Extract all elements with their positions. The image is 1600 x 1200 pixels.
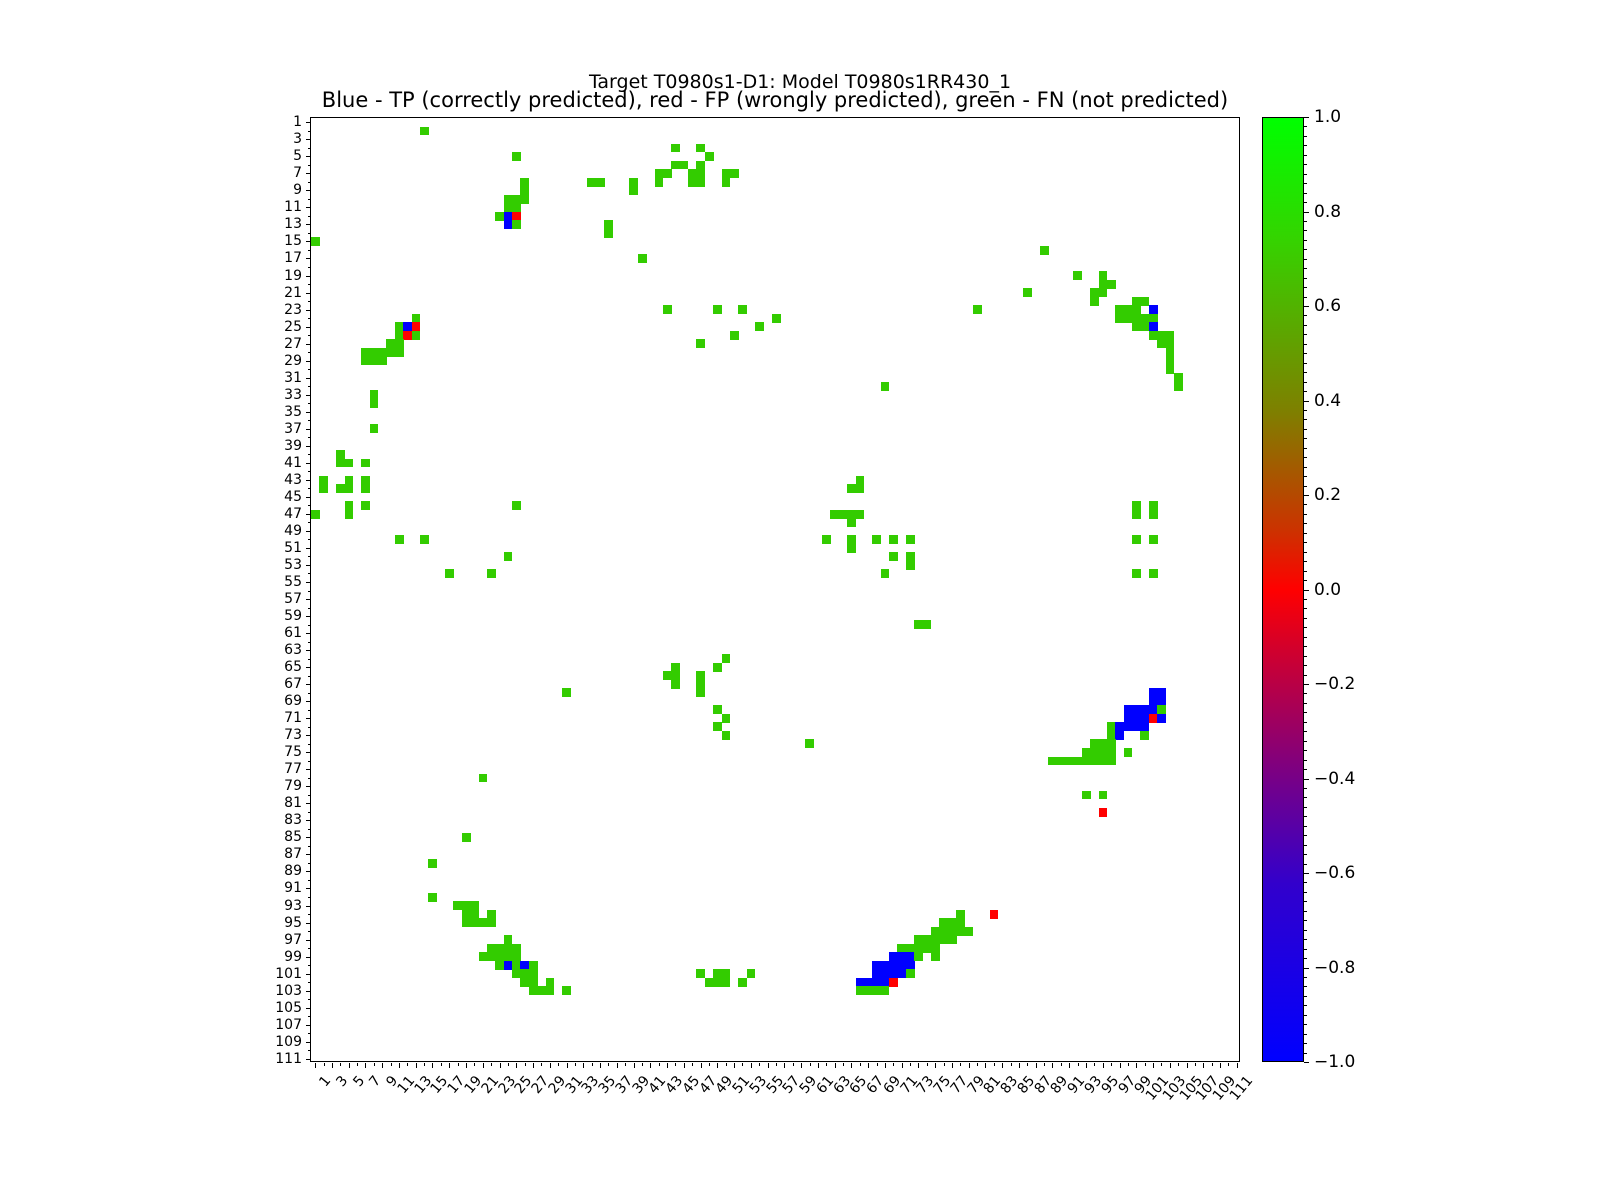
y-axis-tick bbox=[308, 999, 311, 1000]
x-axis-tick bbox=[1011, 1063, 1012, 1066]
y-axis-tick bbox=[306, 752, 311, 753]
y-axis-tick bbox=[308, 880, 311, 881]
contact-cell bbox=[1132, 510, 1141, 519]
contact-map-figure: Target T0980s1-D1: Model T0980s1RR430_1 … bbox=[0, 0, 1600, 1200]
colorbar-minor-tick bbox=[1304, 920, 1307, 921]
colorbar-minor-tick bbox=[1304, 523, 1307, 524]
colorbar[interactable]: 1.00.80.60.40.20.0−0.2−0.4−0.6−0.8−1.0 bbox=[1262, 117, 1304, 1062]
y-axis-tick bbox=[306, 1025, 311, 1026]
y-axis-tick bbox=[308, 505, 311, 506]
x-axis-tick bbox=[793, 1063, 794, 1066]
x-axis-tick bbox=[918, 1063, 919, 1068]
x-axis-tick bbox=[927, 1063, 928, 1066]
contact-cell bbox=[671, 680, 680, 689]
y-axis-tick bbox=[308, 863, 311, 864]
colorbar-minor-tick bbox=[1304, 580, 1307, 581]
y-axis-tick-label: 37 bbox=[284, 421, 302, 437]
y-axis-tick bbox=[306, 906, 311, 907]
y-axis-tick bbox=[308, 403, 311, 404]
x-axis-tick bbox=[1036, 1063, 1037, 1068]
y-axis-tick-label: 13 bbox=[284, 216, 302, 232]
colorbar-minor-tick bbox=[1304, 958, 1307, 959]
y-axis-tick-label: 73 bbox=[284, 727, 302, 743]
x-axis-tick bbox=[851, 1063, 852, 1068]
y-axis-tick bbox=[308, 744, 311, 745]
y-axis-tick bbox=[308, 931, 311, 932]
colorbar-minor-tick bbox=[1304, 240, 1307, 241]
y-axis-tick bbox=[308, 301, 311, 302]
colorbar-minor-tick bbox=[1304, 363, 1307, 364]
y-axis-tick bbox=[306, 139, 311, 140]
y-axis-tick bbox=[306, 565, 311, 566]
y-axis-tick bbox=[306, 173, 311, 174]
x-axis-tick bbox=[985, 1063, 986, 1068]
y-axis-tick bbox=[306, 497, 311, 498]
colorbar-minor-tick bbox=[1304, 467, 1307, 468]
colorbar-minor-tick bbox=[1304, 438, 1307, 439]
colorbar-minor-tick bbox=[1304, 334, 1307, 335]
y-axis-tick-label: 65 bbox=[284, 659, 302, 675]
colorbar-minor-tick bbox=[1304, 1043, 1307, 1044]
contact-cell bbox=[738, 305, 747, 314]
y-axis-tick-label: 17 bbox=[284, 250, 302, 266]
y-axis-tick bbox=[308, 778, 311, 779]
colorbar-minor-tick bbox=[1304, 816, 1307, 817]
contact-cell bbox=[1082, 791, 1091, 800]
x-axis-tick bbox=[935, 1063, 936, 1068]
x-axis-tick-label: 3 bbox=[333, 1073, 351, 1090]
y-axis-tick bbox=[308, 846, 311, 847]
x-axis-tick bbox=[944, 1063, 945, 1066]
contact-cell bbox=[512, 152, 521, 161]
x-axis-tick bbox=[659, 1063, 660, 1066]
y-axis-tick bbox=[308, 250, 311, 251]
contact-cell bbox=[881, 382, 890, 391]
y-axis-tick bbox=[308, 625, 311, 626]
colorbar-minor-tick bbox=[1304, 788, 1307, 789]
contact-cell bbox=[713, 663, 722, 672]
colorbar-tick-label: 0.4 bbox=[1314, 391, 1341, 411]
colorbar-minor-tick bbox=[1304, 949, 1307, 950]
x-axis-tick bbox=[324, 1063, 325, 1066]
y-axis-tick bbox=[308, 199, 311, 200]
x-axis-tick bbox=[558, 1063, 559, 1066]
contact-cell bbox=[881, 986, 890, 995]
x-axis-tick bbox=[1128, 1063, 1129, 1066]
contact-cell bbox=[1099, 808, 1108, 817]
y-axis-tick bbox=[306, 974, 311, 975]
x-axis-tick bbox=[826, 1063, 827, 1066]
y-axis-tick-label: 105 bbox=[275, 1000, 302, 1016]
colorbar-minor-tick bbox=[1304, 675, 1307, 676]
colorbar-minor-tick bbox=[1304, 457, 1307, 458]
colorbar-minor-tick bbox=[1304, 183, 1307, 184]
x-axis-tick bbox=[977, 1063, 978, 1066]
y-axis-tick-label: 31 bbox=[284, 370, 302, 386]
y-axis-tick-label: 9 bbox=[293, 182, 302, 198]
x-axis-tick bbox=[843, 1063, 844, 1066]
colorbar-tick bbox=[1304, 779, 1309, 780]
contact-cell bbox=[1174, 382, 1183, 391]
x-axis-tick bbox=[1153, 1063, 1154, 1068]
x-axis-tick bbox=[407, 1063, 408, 1066]
x-axis-tick bbox=[424, 1063, 425, 1066]
x-axis-tick bbox=[675, 1063, 676, 1066]
contact-map-plot-area[interactable]: 1133557799111113131515171719192121232325… bbox=[310, 117, 1240, 1062]
y-axis-tick bbox=[306, 395, 311, 396]
y-axis-tick bbox=[306, 514, 311, 515]
y-axis-tick-label: 75 bbox=[284, 744, 302, 760]
contact-cell bbox=[772, 314, 781, 323]
y-axis-tick-label: 39 bbox=[284, 438, 302, 454]
colorbar-minor-tick bbox=[1304, 278, 1307, 279]
colorbar-tick bbox=[1304, 401, 1309, 402]
y-axis-tick bbox=[306, 888, 311, 889]
y-axis-tick bbox=[306, 923, 311, 924]
contact-cell bbox=[428, 893, 437, 902]
y-axis-tick bbox=[306, 207, 311, 208]
colorbar-gradient bbox=[1262, 117, 1304, 1062]
x-axis-tick bbox=[960, 1063, 961, 1066]
y-axis-tick bbox=[306, 1059, 311, 1060]
colorbar-minor-tick bbox=[1304, 618, 1307, 619]
y-axis-tick-label: 27 bbox=[284, 336, 302, 352]
colorbar-minor-tick bbox=[1304, 164, 1307, 165]
y-axis-tick bbox=[308, 573, 311, 574]
y-axis-tick bbox=[306, 378, 311, 379]
x-axis-tick bbox=[650, 1063, 651, 1068]
y-axis-tick bbox=[306, 582, 311, 583]
contact-cell bbox=[395, 348, 404, 357]
y-axis-tick bbox=[306, 735, 311, 736]
contact-cell bbox=[512, 220, 521, 229]
colorbar-minor-tick bbox=[1304, 1024, 1307, 1025]
colorbar-minor-tick bbox=[1304, 155, 1307, 156]
x-axis-tick bbox=[382, 1063, 383, 1068]
colorbar-tick-label: 1.0 bbox=[1314, 107, 1341, 127]
contact-cell bbox=[361, 459, 370, 468]
contact-cell bbox=[1023, 288, 1032, 297]
y-axis-tick-label: 99 bbox=[284, 949, 302, 965]
x-axis-tick bbox=[759, 1063, 760, 1066]
x-axis-tick bbox=[709, 1063, 710, 1066]
contact-cell bbox=[1107, 280, 1116, 289]
contact-cell bbox=[520, 195, 529, 204]
contact-cell bbox=[395, 535, 404, 544]
contact-cell bbox=[889, 978, 898, 987]
contact-cell bbox=[671, 144, 680, 153]
x-axis-tick bbox=[1170, 1063, 1171, 1068]
contact-cell bbox=[847, 544, 856, 553]
colorbar-minor-tick bbox=[1304, 646, 1307, 647]
x-axis-tick bbox=[583, 1063, 584, 1068]
y-axis-tick bbox=[306, 258, 311, 259]
contact-cell bbox=[370, 424, 379, 433]
y-axis-tick-label: 81 bbox=[284, 795, 302, 811]
y-axis-tick-label: 25 bbox=[284, 319, 302, 335]
colorbar-minor-tick bbox=[1304, 315, 1307, 316]
y-axis-tick bbox=[306, 854, 311, 855]
contact-cell bbox=[663, 305, 672, 314]
contact-cell bbox=[428, 859, 437, 868]
colorbar-minor-tick bbox=[1304, 136, 1307, 137]
colorbar-minor-tick bbox=[1304, 504, 1307, 505]
x-axis-tick bbox=[315, 1063, 316, 1068]
y-axis-tick bbox=[306, 633, 311, 634]
contact-cell bbox=[504, 552, 513, 561]
y-axis-tick bbox=[306, 684, 311, 685]
y-axis-tick-label: 91 bbox=[284, 880, 302, 896]
y-axis-tick bbox=[308, 761, 311, 762]
y-axis-tick bbox=[308, 471, 311, 472]
colorbar-minor-tick bbox=[1304, 126, 1307, 127]
y-axis-tick bbox=[308, 1050, 311, 1051]
contact-cell bbox=[487, 918, 496, 927]
x-axis-tick bbox=[458, 1063, 459, 1066]
y-axis-tick bbox=[308, 437, 311, 438]
contact-cell bbox=[1040, 246, 1049, 255]
x-axis-tick bbox=[466, 1063, 467, 1068]
x-axis-tick bbox=[952, 1063, 953, 1068]
x-axis-tick bbox=[734, 1063, 735, 1068]
x-axis-tick bbox=[717, 1063, 718, 1068]
contact-cell bbox=[906, 969, 915, 978]
contact-cell bbox=[1149, 510, 1158, 519]
colorbar-minor-tick bbox=[1304, 391, 1307, 392]
y-axis-tick bbox=[306, 156, 311, 157]
y-axis-tick bbox=[308, 386, 311, 387]
contact-cell bbox=[562, 688, 571, 697]
y-axis-tick bbox=[308, 131, 311, 132]
x-axis-tick bbox=[349, 1063, 350, 1068]
y-axis-tick bbox=[308, 165, 311, 166]
colorbar-minor-tick bbox=[1304, 930, 1307, 931]
y-axis-tick bbox=[308, 369, 311, 370]
contact-cell bbox=[1132, 569, 1141, 578]
y-axis-tick bbox=[308, 267, 311, 268]
colorbar-minor-tick bbox=[1304, 174, 1307, 175]
contact-cell bbox=[722, 714, 731, 723]
x-axis-tick bbox=[969, 1063, 970, 1068]
x-axis-tick bbox=[1195, 1063, 1196, 1066]
y-axis-tick bbox=[306, 310, 311, 311]
y-axis-tick bbox=[308, 233, 311, 234]
y-axis-tick-label: 19 bbox=[284, 268, 302, 284]
y-axis-tick bbox=[306, 446, 311, 447]
colorbar-minor-tick bbox=[1304, 344, 1307, 345]
y-axis-tick bbox=[308, 591, 311, 592]
y-axis-tick-label: 49 bbox=[284, 523, 302, 539]
contact-cell bbox=[906, 561, 915, 570]
x-axis-tick bbox=[642, 1063, 643, 1066]
contact-cell bbox=[705, 152, 714, 161]
colorbar-minor-tick bbox=[1304, 731, 1307, 732]
colorbar-minor-tick bbox=[1304, 769, 1307, 770]
x-axis-tick-label: 1 bbox=[316, 1073, 334, 1090]
x-axis-tick bbox=[1212, 1063, 1213, 1066]
contact-cell bbox=[445, 569, 454, 578]
y-axis-tick bbox=[308, 727, 311, 728]
contact-cell bbox=[722, 178, 731, 187]
x-axis-tick bbox=[357, 1063, 358, 1066]
colorbar-minor-tick bbox=[1304, 608, 1307, 609]
contact-cell bbox=[722, 731, 731, 740]
y-axis-tick bbox=[308, 454, 311, 455]
colorbar-minor-tick bbox=[1304, 882, 1307, 883]
y-axis-tick-label: 41 bbox=[284, 455, 302, 471]
contact-cell bbox=[696, 688, 705, 697]
contact-cell bbox=[1107, 757, 1116, 766]
y-axis-tick-label: 67 bbox=[284, 676, 302, 692]
colorbar-tick-label: 0.6 bbox=[1314, 296, 1341, 316]
colorbar-minor-tick bbox=[1304, 637, 1307, 638]
contact-cell bbox=[923, 620, 932, 629]
y-axis-tick-label: 21 bbox=[284, 285, 302, 301]
colorbar-minor-tick bbox=[1304, 892, 1307, 893]
y-axis-tick bbox=[306, 650, 311, 651]
contact-cell bbox=[1115, 731, 1124, 740]
x-axis-tick bbox=[1228, 1063, 1229, 1066]
x-axis-tick bbox=[332, 1063, 333, 1068]
contact-cell bbox=[696, 339, 705, 348]
y-axis-tick-label: 95 bbox=[284, 915, 302, 931]
contact-cell bbox=[856, 510, 865, 519]
y-axis-tick-label: 89 bbox=[284, 863, 302, 879]
x-axis-tick bbox=[885, 1063, 886, 1068]
x-axis-tick bbox=[617, 1063, 618, 1068]
contact-cell bbox=[1132, 535, 1141, 544]
contact-cell bbox=[319, 484, 328, 493]
y-axis-tick-label: 45 bbox=[284, 489, 302, 505]
x-axis-tick bbox=[625, 1063, 626, 1066]
x-axis-tick bbox=[877, 1063, 878, 1066]
y-axis-tick bbox=[306, 412, 311, 413]
y-axis-tick bbox=[306, 769, 311, 770]
contact-cell bbox=[822, 535, 831, 544]
x-axis-tick bbox=[1069, 1063, 1070, 1068]
colorbar-minor-tick bbox=[1304, 193, 1307, 194]
x-axis-tick bbox=[742, 1063, 743, 1066]
x-axis-tick bbox=[902, 1063, 903, 1068]
y-axis-tick bbox=[306, 361, 311, 362]
y-axis-tick bbox=[306, 1008, 311, 1009]
y-axis-tick bbox=[306, 820, 311, 821]
colorbar-minor-tick bbox=[1304, 268, 1307, 269]
colorbar-minor-tick bbox=[1304, 665, 1307, 666]
contact-cell bbox=[1149, 535, 1158, 544]
contact-cell bbox=[345, 510, 354, 519]
contact-cell bbox=[906, 535, 915, 544]
colorbar-minor-tick bbox=[1304, 939, 1307, 940]
y-axis-tick bbox=[308, 522, 311, 523]
colorbar-minor-tick bbox=[1304, 372, 1307, 373]
contact-cell bbox=[1140, 731, 1149, 740]
x-axis-tick bbox=[1203, 1063, 1204, 1068]
colorbar-tick bbox=[1304, 873, 1309, 874]
x-axis-tick bbox=[701, 1063, 702, 1068]
colorbar-tick-label: 0.8 bbox=[1314, 202, 1341, 222]
x-axis-tick bbox=[592, 1063, 593, 1066]
y-axis-tick bbox=[308, 676, 311, 677]
x-axis-tick bbox=[416, 1063, 417, 1068]
contact-cells-layer bbox=[311, 118, 1239, 1061]
y-axis-tick bbox=[308, 284, 311, 285]
contact-cell bbox=[596, 178, 605, 187]
y-axis-tick bbox=[306, 1042, 311, 1043]
contact-cell bbox=[1124, 748, 1133, 757]
colorbar-tick bbox=[1304, 495, 1309, 496]
y-axis-tick-label: 85 bbox=[284, 829, 302, 845]
colorbar-minor-tick bbox=[1304, 722, 1307, 723]
contact-cell bbox=[629, 186, 638, 195]
x-axis-tick bbox=[399, 1063, 400, 1068]
contact-cell bbox=[722, 654, 731, 663]
x-axis-tick bbox=[483, 1063, 484, 1068]
y-axis-tick bbox=[308, 182, 311, 183]
y-axis-tick-label: 59 bbox=[284, 608, 302, 624]
y-axis-tick bbox=[306, 871, 311, 872]
x-axis-tick bbox=[1052, 1063, 1053, 1068]
x-axis-tick bbox=[726, 1063, 727, 1066]
contact-cell bbox=[914, 952, 923, 961]
colorbar-minor-tick bbox=[1304, 287, 1307, 288]
colorbar-minor-tick bbox=[1304, 476, 1307, 477]
colorbar-minor-tick bbox=[1304, 145, 1307, 146]
x-axis-tick bbox=[1094, 1063, 1095, 1066]
colorbar-minor-tick bbox=[1304, 1034, 1307, 1035]
y-axis-tick-label: 51 bbox=[284, 540, 302, 556]
y-axis-tick-label: 61 bbox=[284, 625, 302, 641]
contact-cell bbox=[948, 935, 957, 944]
y-axis-tick bbox=[306, 480, 311, 481]
colorbar-tick bbox=[1304, 968, 1309, 969]
y-axis-tick bbox=[308, 318, 311, 319]
contact-cell bbox=[1149, 569, 1158, 578]
colorbar-tick bbox=[1304, 1062, 1309, 1063]
x-axis-tick bbox=[1145, 1063, 1146, 1066]
axes-title: Blue - TP (correctly predicted), red - F… bbox=[310, 88, 1240, 112]
contact-cell bbox=[738, 978, 747, 987]
colorbar-minor-tick bbox=[1304, 750, 1307, 751]
contact-cell bbox=[713, 305, 722, 314]
colorbar-tick-label: −0.4 bbox=[1314, 769, 1355, 789]
colorbar-minor-tick bbox=[1304, 996, 1307, 997]
colorbar-minor-tick bbox=[1304, 552, 1307, 553]
x-axis-tick bbox=[550, 1063, 551, 1068]
y-axis-tick bbox=[308, 965, 311, 966]
x-axis-tick-label: 5 bbox=[350, 1073, 368, 1090]
y-axis-tick-label: 97 bbox=[284, 932, 302, 948]
y-axis-tick-label: 35 bbox=[284, 404, 302, 420]
contact-cell bbox=[856, 476, 865, 485]
contact-cell bbox=[370, 399, 379, 408]
contact-cell bbox=[730, 331, 739, 340]
x-axis-tick bbox=[1111, 1063, 1112, 1066]
contact-cell bbox=[345, 459, 354, 468]
x-axis-tick bbox=[692, 1063, 693, 1066]
contact-cell bbox=[856, 484, 865, 493]
x-axis-tick bbox=[449, 1063, 450, 1068]
contact-cell bbox=[479, 774, 488, 783]
x-axis-tick bbox=[667, 1063, 668, 1068]
colorbar-minor-tick bbox=[1304, 741, 1307, 742]
colorbar-minor-tick bbox=[1304, 1015, 1307, 1016]
x-axis-tick bbox=[810, 1063, 811, 1066]
x-axis-tick bbox=[1044, 1063, 1045, 1066]
x-axis-tick bbox=[893, 1063, 894, 1066]
x-axis-tick bbox=[508, 1063, 509, 1066]
contact-cell bbox=[462, 833, 471, 842]
